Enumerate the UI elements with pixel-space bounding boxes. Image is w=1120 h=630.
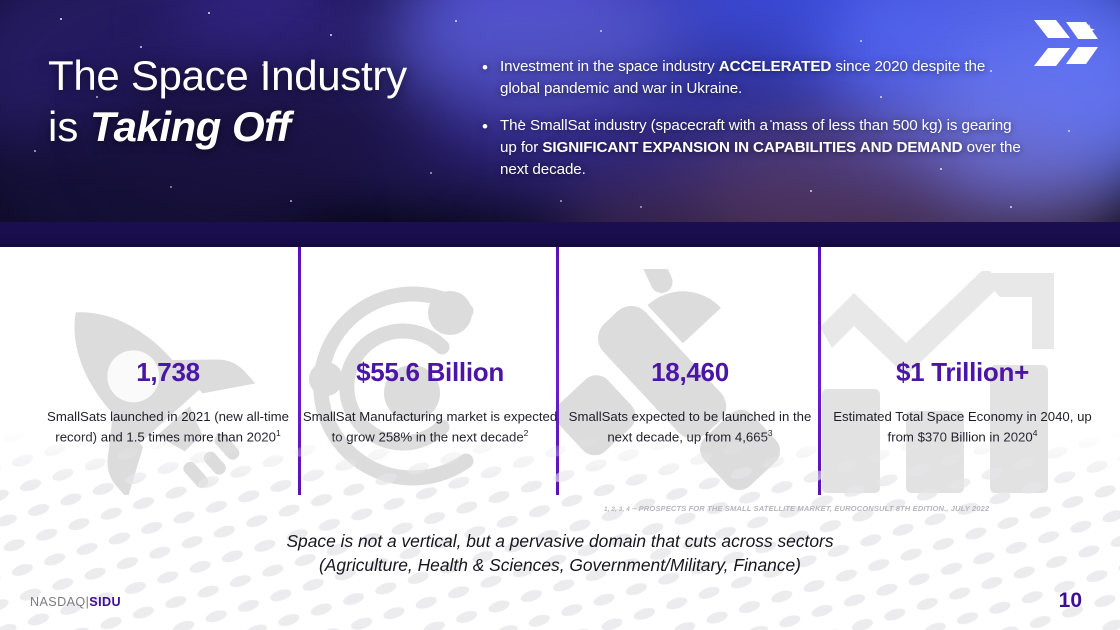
source-footnote: 1, 2, 3, 4 – PROSPECTS FOR THE SMALL SAT… — [604, 504, 989, 513]
title-line-2-emphasis: Taking Off — [90, 103, 290, 150]
stat-value: 18,460 — [560, 357, 820, 388]
exchange-label: NASDAQ| — [30, 595, 89, 609]
bullet-marker-icon: • — [482, 56, 500, 101]
slide: The Space Industry is Taking Off •Invest… — [0, 0, 1120, 630]
footnote-refs: 1, 2, 3, 4 — [604, 506, 630, 513]
title-line-2: is Taking Off — [48, 105, 407, 150]
footnote-text: – PROSPECTS FOR THE SMALL SATELLITE MARK… — [630, 504, 989, 513]
hero-bullet-text: The SmallSat industry (spacecraft with a… — [500, 115, 1027, 182]
bullet-emphasis: ACCELERATED — [719, 58, 832, 75]
hero-bullet-item: •The SmallSat industry (spacecraft with … — [482, 115, 1027, 182]
accent-band — [0, 222, 1120, 247]
tagline-line-2: (Agriculture, Health & Sciences, Governm… — [0, 554, 1120, 578]
hero-banner: The Space Industry is Taking Off •Invest… — [0, 0, 1120, 222]
title-line-1: The Space Industry — [48, 54, 407, 99]
page-title: The Space Industry is Taking Off — [48, 54, 407, 149]
ticker-symbol: SIDU — [89, 595, 121, 609]
title-line-2-prefix: is — [48, 103, 90, 150]
bullet-marker-icon: • — [482, 115, 500, 182]
bullet-segment: Investment in the space industry — [500, 58, 719, 75]
page-number: 10 — [1059, 589, 1082, 613]
hero-bullet-item: •Investment in the space industry ACCELE… — [482, 56, 1027, 101]
bullet-emphasis: SIGNIFICANT EXPANSION IN CAPABILITIES AN… — [542, 139, 962, 156]
stat-value: 1,738 — [38, 357, 298, 388]
hero-bullet-text: Investment in the space industry ACCELER… — [500, 56, 1027, 101]
stat-value: $1 Trillion+ — [830, 357, 1095, 388]
stat-value: $55.6 Billion — [300, 357, 560, 388]
tagline: Space is not a vertical, but a pervasive… — [0, 530, 1120, 577]
tagline-line-1: Space is not a vertical, but a pervasive… — [0, 530, 1120, 554]
sidus-space-x-logo — [1026, 14, 1098, 74]
nasdaq-ticker: NASDAQ|SIDU — [30, 595, 121, 609]
hero-bullet-list: •Investment in the space industry ACCELE… — [482, 56, 1027, 196]
